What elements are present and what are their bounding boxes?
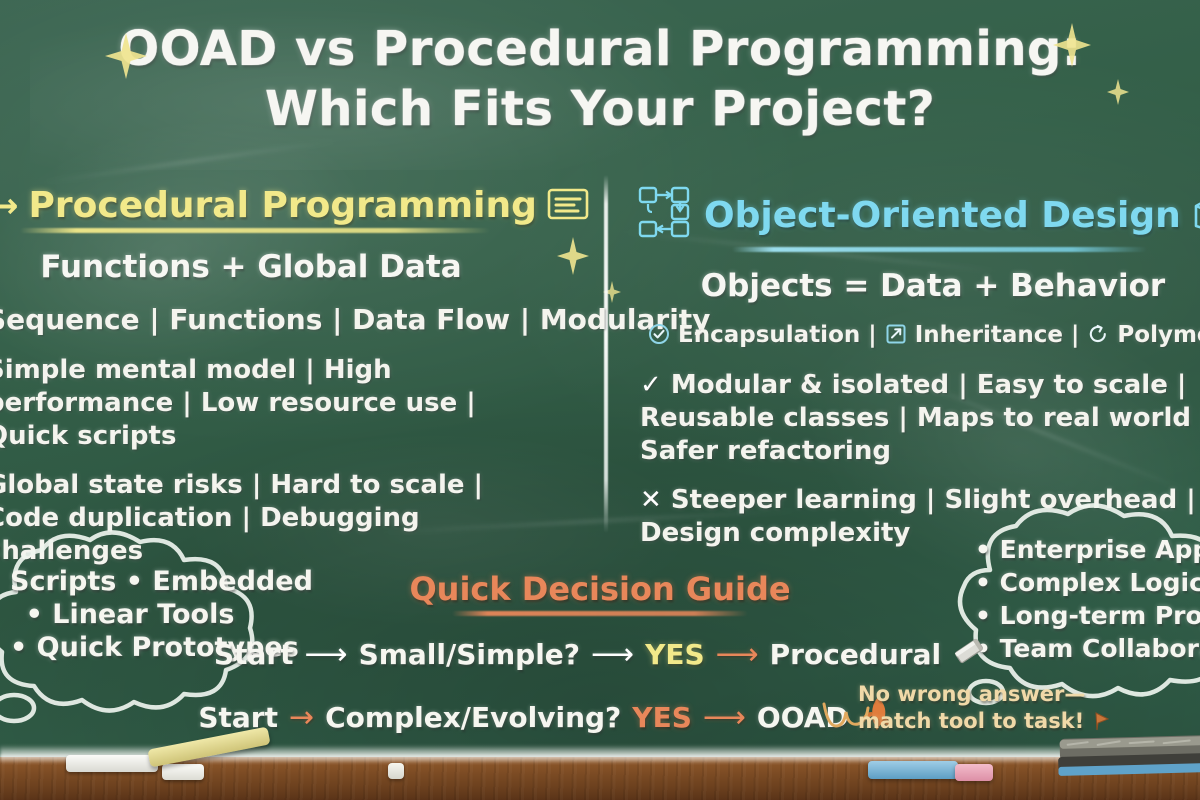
concept-label-encapsulation: Encapsulation: [678, 322, 860, 348]
ooad-pros: ✓ Modular & isolated | Easy to scale | R…: [614, 369, 1200, 468]
procedural-heading-row: → Procedural Programming: [0, 185, 586, 226]
chalk-streak: [41, 139, 338, 184]
document-lines-icon: [547, 187, 589, 225]
arrow-right-icon: ⟶: [591, 637, 634, 672]
chalk-white-long[interactable]: [66, 755, 158, 772]
procedural-heading-underline: [20, 228, 490, 233]
guide-title-underline: [452, 611, 748, 616]
procedural-heading: Procedural Programming: [29, 185, 537, 226]
chalk-stick-icon: [952, 636, 986, 673]
check-circle-icon: [648, 323, 670, 351]
guide-title: Quick Decision Guide: [0, 570, 1200, 608]
row2-yes: YES: [632, 701, 692, 734]
ooad-heading-row: Object-Oriented Design: [614, 185, 1200, 245]
ooad-heading: Object-Oriented Design: [704, 195, 1181, 236]
arrow-right-icon: ⟶: [305, 637, 348, 672]
note-line-1: No wrong answer—: [858, 681, 1112, 708]
row1-start: Start: [214, 638, 294, 671]
chalkboard-canvas: OOAD vs Procedural Programming: Which Fi…: [0, 0, 1200, 800]
pointer-flag-icon: [1092, 709, 1112, 733]
chalk-white-tiny[interactable]: [388, 763, 404, 779]
right-cloud-line-1: • Enterprise Apps: [975, 533, 1200, 566]
chalk-pink[interactable]: [955, 764, 993, 781]
closing-note: No wrong answer— match tool to task!: [858, 681, 1112, 735]
cube-box-icon: [1191, 193, 1200, 237]
ooad-heading-underline: [732, 247, 1147, 252]
arrow-right-icon: →: [0, 186, 19, 226]
procedural-subheading: Functions + Global Data: [0, 249, 586, 285]
refresh-cycle-icon: [1087, 323, 1109, 351]
chalk-white-stub[interactable]: [162, 764, 204, 780]
check-mark-icon: ✓: [640, 369, 662, 402]
board-eraser[interactable]: [1057, 733, 1200, 779]
column-divider: [604, 175, 608, 533]
row1-yes: YES: [645, 638, 705, 671]
arrow-right-icon: ⟶: [716, 637, 759, 672]
ooad-subheading: Objects = Data + Behavior: [614, 268, 1200, 304]
note-line-2-text: match tool to task!: [858, 709, 1084, 733]
cross-mark-icon: ✕: [640, 484, 662, 517]
arrow-right-icon: →: [289, 700, 314, 735]
chalk-blue[interactable]: [868, 761, 958, 779]
row1-answer: Procedural: [770, 638, 941, 671]
ooad-column: Object-Oriented Design Objects = Data + …: [614, 185, 1200, 550]
row1-question: Small/Simple?: [359, 638, 580, 671]
separator: |: [1071, 322, 1087, 348]
arrow-right-icon: ⟶: [703, 700, 746, 735]
procedural-concepts: Sequence | Functions | Data Flow | Modul…: [0, 303, 586, 336]
page-title-line-2: Which Fits Your Project?: [0, 80, 1200, 138]
ooad-pros-text: Modular & isolated | Easy to scale | Reu…: [640, 370, 1200, 466]
note-line-2: match tool to task!: [858, 708, 1112, 735]
ooad-concepts: Encapsulation | Inheritance | Polymorphi…: [614, 322, 1200, 351]
page-title: OOAD vs Procedural Programming: Which Fi…: [0, 20, 1200, 138]
procedural-pros: Simple mental model | High performance |…: [0, 354, 486, 453]
decision-row-procedural: Start ⟶ Small/Simple? ⟶ YES ⟶ Procedural: [0, 636, 1200, 673]
object-diagram-icon: [636, 185, 694, 245]
inherit-box-arrow-icon: [885, 323, 907, 351]
procedural-column: → Procedural Programming Functions + Glo…: [0, 185, 586, 568]
concept-label-inheritance: Inheritance: [915, 322, 1063, 348]
separator: |: [868, 322, 884, 348]
page-title-line-1: OOAD vs Procedural Programming:: [0, 20, 1200, 78]
row2-question: Complex/Evolving?: [325, 701, 621, 734]
concept-label-polymorphism: Polymorphism: [1117, 322, 1200, 348]
